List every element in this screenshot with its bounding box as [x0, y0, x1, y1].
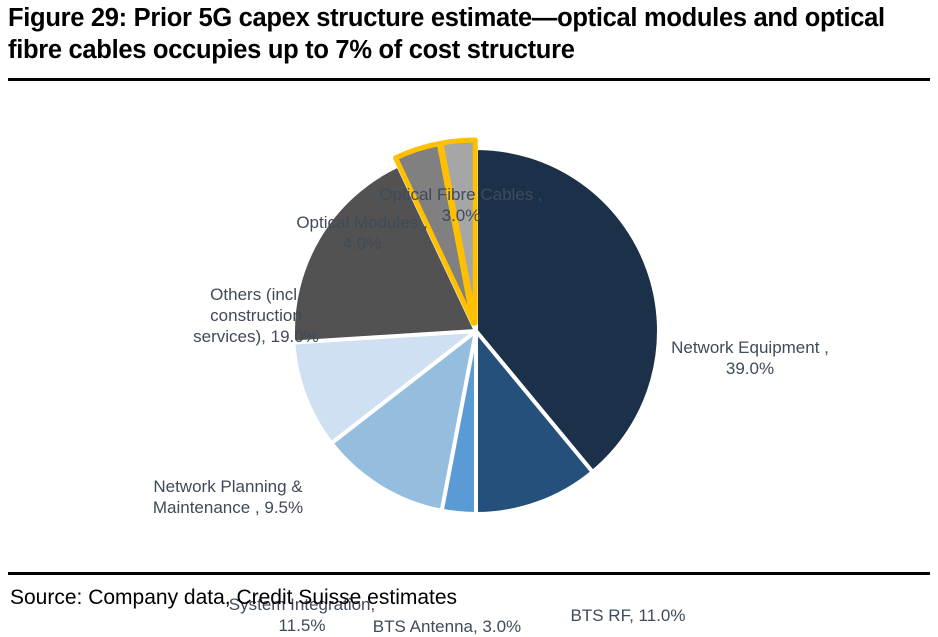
- source-note: Source: Company data, Credit Suisse esti…: [10, 586, 457, 610]
- data-label-bts-rf: BTS RF, 11.0%: [548, 605, 708, 626]
- figure-page: Figure 29: Prior 5G capex structure esti…: [0, 0, 938, 622]
- footer-divider: [8, 572, 930, 575]
- page-title: Figure 29: Prior 5G capex structure esti…: [8, 2, 930, 66]
- data-label-optical-modules: Optical Modules , 4.0%: [262, 212, 462, 254]
- figure-title-block: Figure 29: Prior 5G capex structure esti…: [8, 2, 930, 66]
- data-label-others: Others (incl. construction services), 19…: [176, 284, 336, 347]
- data-label-network-equipment: Network Equipment , 39.0%: [650, 337, 850, 379]
- title-divider: [8, 78, 930, 81]
- data-label-network-planning-maintenance: Network Planning & Maintenance , 9.5%: [128, 476, 328, 518]
- pie-chart-area: Optical Fibre Cables , 3.0% Optical Modu…: [0, 84, 938, 562]
- data-label-bts-antenna: BTS Antenna, 3.0%: [362, 616, 532, 637]
